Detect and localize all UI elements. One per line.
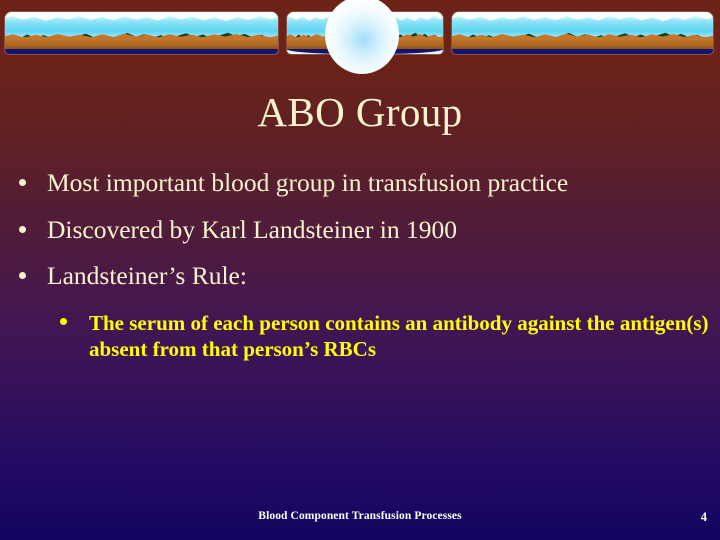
- sun-icon: [325, 0, 399, 74]
- bullet-dot-icon: [19, 226, 26, 233]
- water-strip: [5, 49, 278, 54]
- slide-title: ABO Group: [0, 92, 720, 133]
- bullet-dot-icon: [19, 179, 26, 186]
- bullet-item: Most important blood group in transfusio…: [14, 170, 714, 196]
- landscape-panel-right: [452, 12, 713, 54]
- page-number: 4: [701, 510, 707, 525]
- bullet-text: Discovered by Karl Landsteiner in 1900: [47, 215, 457, 244]
- header-banner: [0, 0, 720, 70]
- bullet-item: Landsteiner’s Rule:: [14, 263, 714, 289]
- slide-body: Most important blood group in transfusio…: [14, 170, 714, 362]
- sub-bullet-item: The serum of each person contains an ant…: [56, 310, 714, 362]
- sub-bullet-dot-icon: [60, 318, 67, 325]
- sub-bullet-text: The serum of each person contains an ant…: [89, 311, 709, 361]
- water-strip: [452, 49, 713, 54]
- presentation-slide: ABO Group Most important blood group in …: [0, 0, 720, 540]
- bullet-item: Discovered by Karl Landsteiner in 1900: [14, 217, 714, 243]
- bullet-dot-icon: [19, 272, 26, 279]
- bullet-text: Landsteiner’s Rule:: [47, 261, 247, 290]
- landscape-panel-left: [5, 12, 278, 54]
- footer-title: Blood Component Transfusion Processes: [0, 510, 720, 522]
- slide-footer: Blood Component Transfusion Processes 4: [0, 510, 720, 528]
- bullet-text: Most important blood group in transfusio…: [47, 168, 568, 197]
